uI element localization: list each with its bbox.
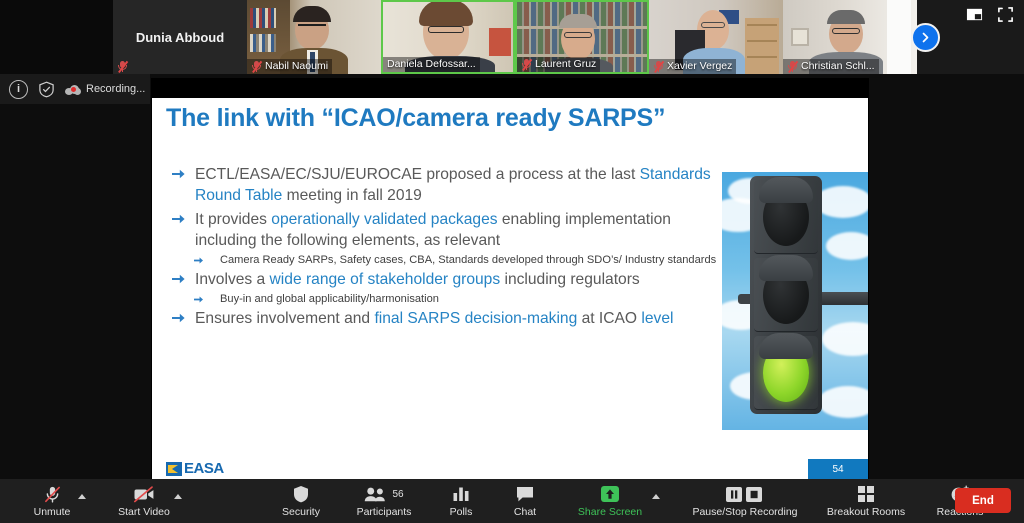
- meeting-info-bar: i Recording...: [0, 74, 150, 104]
- sub-bullet-text: Buy-in and global applicability/harmonis…: [220, 293, 439, 305]
- slide-bullet: Involves a wide range of stakeholder gro…: [162, 269, 722, 290]
- video-tile-nabil-naoumi[interactable]: Nabil Naoumi: [247, 0, 381, 74]
- easa-wordmark: EASA: [184, 460, 224, 477]
- toolbar-item-label: Chat: [514, 506, 536, 518]
- video-tile-display-name: Daniela Defossar...: [387, 58, 476, 70]
- fullscreen-icon[interactable]: [997, 6, 1014, 23]
- video-tile-namebar: Daniela Defossar...: [383, 57, 480, 72]
- toolbar-participants-button[interactable]: 56 Participants: [338, 479, 430, 523]
- meeting-toolbar: Unmute Start Video Security: [0, 479, 1024, 523]
- recording-label: Recording...: [86, 83, 145, 95]
- slide-body: ECTL/EASA/EC/SJU/EUROCAE proposed a proc…: [162, 164, 722, 331]
- shield-icon[interactable]: [37, 80, 56, 99]
- traffic-light-red-cell: [754, 180, 818, 254]
- slide-title: The link with “ICAO/camera ready SARPS”: [166, 104, 826, 133]
- bullet-text: It provides operationally validated pack…: [195, 211, 671, 249]
- easa-logo: EASA: [166, 460, 224, 477]
- bullet-text: Ensures involvement and final SARPS deci…: [195, 310, 673, 327]
- toolbar-chat-button[interactable]: Chat: [492, 479, 558, 523]
- arrow-bullet-icon: [172, 312, 186, 324]
- pause-stop-recording-icon: [725, 485, 765, 504]
- video-tile-display-name: Xavier Vergez: [667, 60, 732, 72]
- toolbar-share-screen-button[interactable]: Share Screen: [558, 479, 662, 523]
- traffic-light-green-image: [722, 172, 868, 430]
- toolbar-unmute-button[interactable]: Unmute: [8, 479, 96, 523]
- video-tile-christian-schl[interactable]: Christian Schl...: [783, 0, 917, 74]
- traffic-light-housing: [750, 176, 822, 414]
- toolbar-breakout-rooms-button[interactable]: Breakout Rooms: [814, 479, 918, 523]
- video-tile-namebar: Nabil Naoumi: [247, 59, 332, 74]
- traffic-light-green-cell: [754, 336, 818, 410]
- unmute-options-caret-icon[interactable]: [78, 494, 86, 499]
- mic-muted-icon: [43, 485, 62, 504]
- toolbar-item-label: Breakout Rooms: [827, 506, 905, 518]
- video-options-caret-icon[interactable]: [174, 494, 182, 499]
- toolbar-item-label: Pause/Stop Recording: [692, 506, 797, 518]
- slide-bullet: It provides operationally validated pack…: [162, 209, 722, 252]
- toolbar-security-button[interactable]: Security: [264, 479, 338, 523]
- arrow-bullet-icon: [194, 256, 204, 265]
- video-tile-display-name: Dunia Abboud: [136, 30, 224, 45]
- mic-muted-icon: [787, 60, 798, 72]
- toolbar-item-label: Security: [282, 506, 320, 518]
- zoom-meeting-window: Dunia Abboud: [0, 0, 1024, 523]
- filmstrip-next-page-button[interactable]: [911, 23, 940, 52]
- share-options-caret-icon[interactable]: [652, 494, 660, 499]
- slide-bullet: Ensures involvement and final SARPS deci…: [162, 308, 722, 329]
- bullet-text: ECTL/EASA/EC/SJU/EUROCAE proposed a proc…: [195, 166, 711, 204]
- traffic-light-hood: [759, 177, 813, 203]
- arrow-bullet-icon: [172, 168, 186, 180]
- slide-bullet-list: ECTL/EASA/EC/SJU/EUROCAE proposed a proc…: [162, 164, 722, 329]
- traffic-light-amber-cell: [754, 258, 818, 332]
- video-tile-display-name: Nabil Naoumi: [265, 60, 328, 72]
- end-meeting-button[interactable]: End: [955, 488, 1011, 513]
- chat-bubble-icon: [515, 485, 535, 504]
- toolbar-item-label: Unmute: [34, 506, 71, 518]
- slide-sub-bullet: Camera Ready SARPs, Safety cases, CBA, S…: [162, 253, 722, 268]
- toolbar-polls-button[interactable]: Polls: [430, 479, 492, 523]
- mic-muted-icon: [251, 60, 262, 72]
- video-tile-xavier-vergez[interactable]: Xavier Vergez: [649, 0, 783, 74]
- bullet-text: Involves a wide range of stakeholder gro…: [195, 271, 640, 288]
- slide-number-badge: 54: [808, 459, 868, 479]
- chevron-right-icon: [919, 31, 932, 44]
- video-off-icon: [133, 485, 155, 504]
- toolbar-pause-stop-recording-button[interactable]: Pause/Stop Recording: [676, 479, 814, 523]
- shield-icon: [292, 485, 310, 504]
- shared-slide[interactable]: The link with “ICAO/camera ready SARPS” …: [152, 98, 868, 479]
- slide-sub-bullet: Buy-in and global applicability/harmonis…: [162, 292, 722, 307]
- traffic-light-hood: [759, 255, 813, 281]
- arrow-bullet-icon: [172, 273, 186, 285]
- toolbar-item-label: Polls: [450, 506, 473, 518]
- video-tile-daniela-defossar[interactable]: Daniela Defossar...: [381, 0, 515, 74]
- video-tile-display-name: Christian Schl...: [801, 60, 875, 72]
- toolbar-start-video-button[interactable]: Start Video: [96, 479, 192, 523]
- traffic-light-hood: [759, 333, 813, 359]
- toolbar-item-label: Start Video: [118, 506, 170, 518]
- easa-mark-icon: [166, 461, 183, 477]
- slide-bullet: ECTL/EASA/EC/SJU/EUROCAE proposed a proc…: [162, 164, 722, 207]
- picture-in-picture-icon[interactable]: [966, 6, 983, 23]
- recording-indicator[interactable]: Recording...: [65, 83, 145, 95]
- video-tile-display-name: Laurent Gruz: [535, 58, 596, 70]
- video-tile-namebar: Laurent Gruz: [517, 57, 600, 72]
- share-screen-icon: [598, 485, 622, 504]
- participants-count-badge: 56: [392, 489, 403, 500]
- cloud-recording-icon: [65, 84, 81, 95]
- window-controls: [966, 6, 1014, 23]
- breakout-rooms-grid-icon: [857, 485, 875, 504]
- toolbar-item-label: Participants: [357, 506, 412, 518]
- toolbar-item-label: Share Screen: [578, 506, 642, 518]
- sub-bullet-text: Camera Ready SARPs, Safety cases, CBA, S…: [220, 254, 716, 266]
- video-tile-namebar: Christian Schl...: [783, 59, 879, 74]
- video-tile-namebar: [113, 59, 132, 74]
- mic-muted-icon: [521, 58, 532, 70]
- video-tile-namebar: Xavier Vergez: [649, 59, 736, 74]
- arrow-bullet-icon: [172, 213, 186, 225]
- polls-bar-chart-icon: [452, 485, 470, 504]
- traffic-light-pole: [818, 292, 868, 305]
- video-filmstrip: Dunia Abboud: [0, 0, 1024, 74]
- video-tile-dunia-abboud[interactable]: Dunia Abboud: [113, 0, 247, 74]
- arrow-bullet-icon: [194, 295, 204, 304]
- participants-icon: 56: [364, 485, 403, 504]
- mic-muted-icon: [117, 60, 128, 72]
- filmstrip-left-padding: [0, 0, 113, 74]
- info-icon[interactable]: i: [9, 80, 28, 99]
- mic-muted-icon: [653, 60, 664, 72]
- video-tile-laurent-gruz[interactable]: Laurent Gruz: [515, 0, 649, 74]
